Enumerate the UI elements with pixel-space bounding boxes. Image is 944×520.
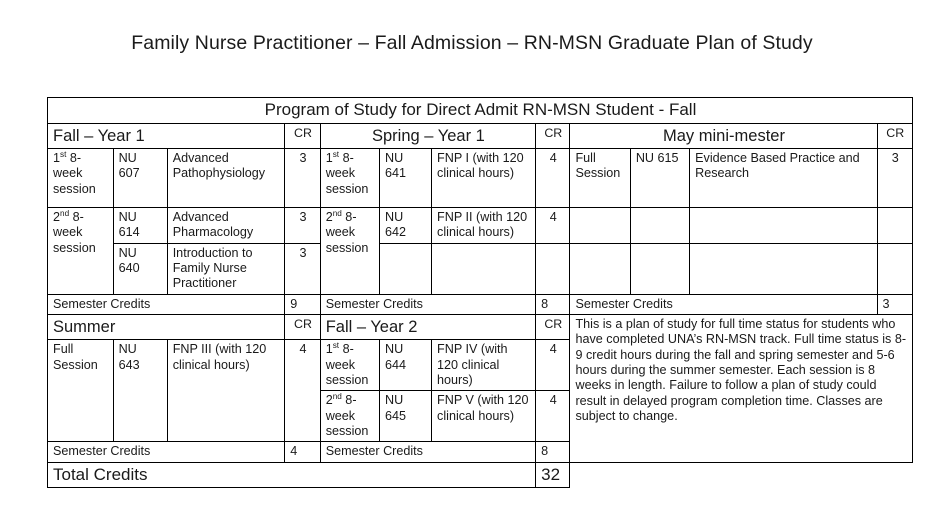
session-label-fall1-r2: 2nd 8-week session [48, 207, 114, 294]
course-row: 2nd 8-week session NU614 Advanced Pharma… [48, 207, 913, 243]
course-title-spring1-r2: FNP II (with 120 clinical hours) [432, 207, 536, 243]
course-code-fall1-r1: NU607 [113, 148, 167, 207]
session-label-may-r3 [570, 243, 630, 294]
plan-note: This is a plan of study for full time st… [570, 315, 913, 463]
course-title-spring1-r1: FNP I (with 120 clinical hours) [432, 148, 536, 207]
session-label-fall2-r2: 2nd 8-week session [320, 391, 379, 442]
semester-credits-row: Semester Credits 9 Semester Credits 8 Se… [48, 294, 913, 314]
course-title-fall2-r2: FNP V (with 120 clinical hours) [432, 391, 536, 442]
course-code-may-r1: NU 615 [630, 148, 689, 207]
total-credits-value: 32 [536, 462, 570, 488]
course-code-fall2-r2: NU645 [380, 391, 432, 442]
course-code-summer-r1: NU643 [113, 340, 167, 442]
term-heading-spring-year1: Spring – Year 1 [320, 123, 535, 148]
course-credits-fall2-r1: 4 [536, 340, 570, 391]
plan-of-study-table: Program of Study for Direct Admit RN-MSN… [47, 97, 913, 488]
session-label-spring1-r1: 1st 8-week session [320, 148, 379, 207]
course-title-fall1-r1: Advanced Pathophysiology [167, 148, 285, 207]
semester-credits-label-fall1: Semester Credits [48, 294, 285, 314]
table-title: Program of Study for Direct Admit RN-MSN… [48, 98, 913, 124]
course-title-may-r2 [690, 207, 877, 243]
session-label-summer-r1: Full Session [48, 340, 114, 442]
term-heading-summer: Summer [48, 315, 285, 340]
semester-credits-value-may: 3 [877, 294, 912, 314]
course-credits-spring1-r1: 4 [536, 148, 570, 207]
page-root: Family Nurse Practitioner – Fall Admissi… [0, 0, 944, 520]
course-code-spring1-r2: NU642 [380, 207, 432, 243]
term-heading-fall-year1: Fall – Year 1 [48, 123, 285, 148]
course-code-may-r2 [630, 207, 689, 243]
semester-credits-label-fall2: Semester Credits [320, 442, 535, 462]
course-title-spring1-r3 [432, 243, 536, 294]
course-credits-fall2-r2: 4 [536, 391, 570, 442]
course-code-fall1-r3: NU640 [113, 243, 167, 294]
course-code-fall1-r2: NU614 [113, 207, 167, 243]
course-credits-spring1-r2: 4 [536, 207, 570, 243]
course-row: 1st 8-week session NU607 Advanced Pathop… [48, 148, 913, 207]
course-row: NU640 Introduction to Family Nurse Pract… [48, 243, 913, 294]
page-title: Family Nurse Practitioner – Fall Admissi… [0, 32, 944, 55]
course-credits-spring1-r3 [536, 243, 570, 294]
cr-header-fall-year1: CR [285, 123, 320, 148]
session-label-may-r2 [570, 207, 630, 243]
term-heading-row-2: Summer CR Fall – Year 2 CR This is a pla… [48, 315, 913, 340]
session-label-fall1-r1: 1st 8-week session [48, 148, 114, 207]
term-heading-row: Fall – Year 1 CR Spring – Year 1 CR May … [48, 123, 913, 148]
course-code-may-r3 [630, 243, 689, 294]
course-title-may-r1: Evidence Based Practice and Research [690, 148, 877, 207]
course-credits-may-r1: 3 [877, 148, 912, 207]
course-credits-may-r2 [877, 207, 912, 243]
semester-credits-value-fall1: 9 [285, 294, 320, 314]
course-title-fall1-r3: Introduction to Family Nurse Practitione… [167, 243, 285, 294]
semester-credits-value-summer: 4 [285, 442, 320, 462]
cr-header-summer: CR [285, 315, 320, 340]
semester-credits-value-fall2: 8 [536, 442, 570, 462]
course-credits-fall1-r3: 3 [285, 243, 320, 294]
course-title-may-r3 [690, 243, 877, 294]
cr-header-may-minimester: CR [877, 123, 912, 148]
cr-header-spring-year1: CR [536, 123, 570, 148]
course-title-fall2-r1: FNP IV (with 120 clinical hours) [432, 340, 536, 391]
term-heading-fall-year2: Fall – Year 2 [320, 315, 535, 340]
course-credits-may-r3 [877, 243, 912, 294]
semester-credits-label-summer: Semester Credits [48, 442, 285, 462]
course-code-spring1-r1: NU641 [380, 148, 432, 207]
total-credits-label: Total Credits [48, 462, 536, 488]
semester-credits-value-spring1: 8 [536, 294, 570, 314]
course-credits-fall1-r1: 3 [285, 148, 320, 207]
semester-credits-label-may: Semester Credits [570, 294, 877, 314]
course-code-spring1-r3 [380, 243, 432, 294]
total-credits-filler [570, 462, 913, 488]
total-credits-row: Total Credits 32 [48, 462, 913, 488]
session-label-fall2-r1: 1st 8-week session [320, 340, 379, 391]
semester-credits-label-spring1: Semester Credits [320, 294, 535, 314]
session-label-may-r1: Full Session [570, 148, 630, 207]
session-label-spring1-r2: 2nd 8-week session [320, 207, 379, 294]
course-credits-fall1-r2: 3 [285, 207, 320, 243]
table-title-row: Program of Study for Direct Admit RN-MSN… [48, 98, 913, 124]
course-code-fall2-r1: NU644 [380, 340, 432, 391]
cr-header-fall-year2: CR [536, 315, 570, 340]
course-title-summer-r1: FNP III (with 120 clinical hours) [167, 340, 285, 442]
term-heading-may-minimester: May mini-mester [570, 123, 877, 148]
course-credits-summer-r1: 4 [285, 340, 320, 442]
course-title-fall1-r2: Advanced Pharmacology [167, 207, 285, 243]
